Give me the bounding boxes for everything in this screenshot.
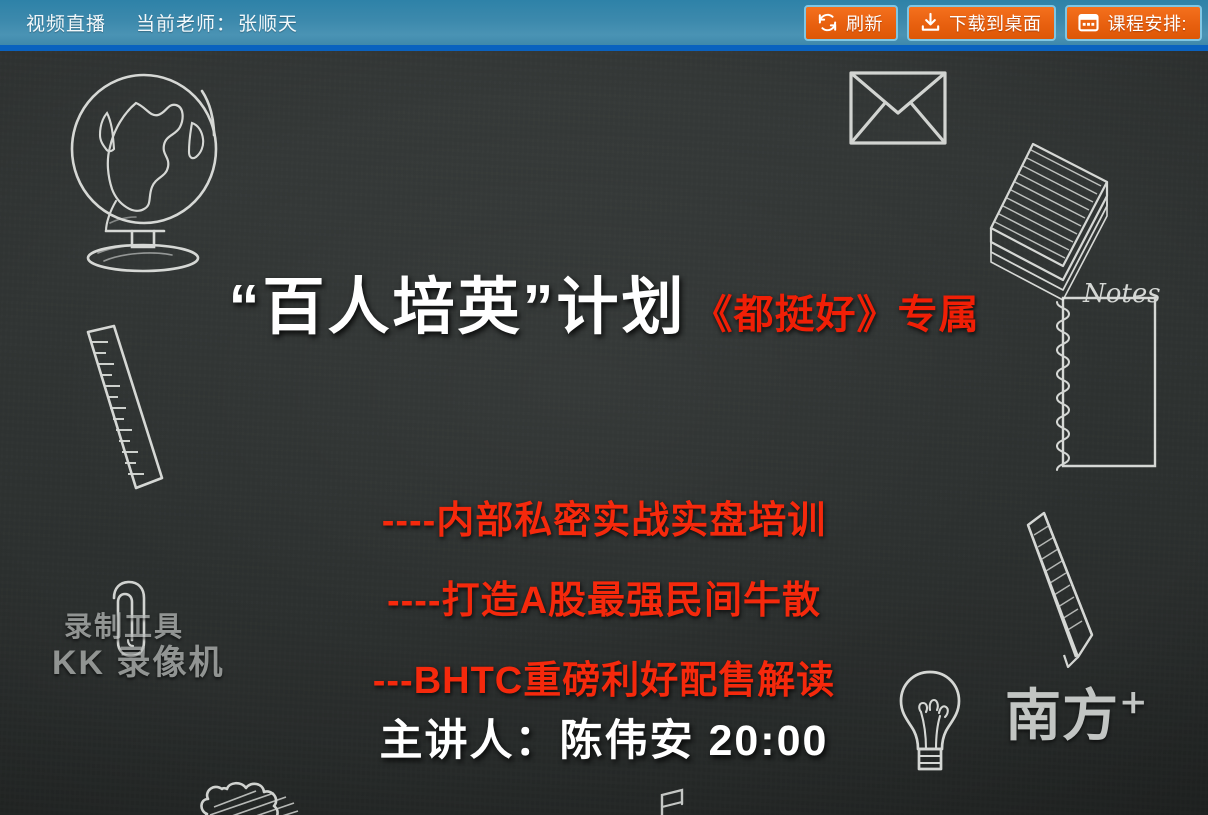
envelope-doodle: [848, 69, 948, 147]
calendar-icon: [1077, 11, 1100, 34]
slide-speaker-line: 主讲人：陈伟安 20:00: [0, 706, 1208, 768]
download-icon: [919, 11, 942, 34]
slide-bullet-1: ----内部私密实战实盘培训: [0, 481, 1208, 561]
refresh-icon: [816, 11, 839, 34]
refresh-button[interactable]: 刷新: [804, 5, 898, 41]
slide-title-main: “百人培英”计划: [228, 256, 686, 346]
slide-title-row: “百人培英”计划 《都挺好》专属: [0, 256, 1208, 346]
live-video-page: 视频直播 当前老师： 张顺天 刷新: [0, 0, 1208, 815]
slide-bullet-list: ----内部私密实战实盘培训 ----打造A股最强民间牛散 ---BHTC重磅利…: [0, 481, 1208, 721]
live-label: 视频直播: [26, 9, 106, 36]
download-to-desktop-button[interactable]: 下载到桌面: [907, 5, 1057, 41]
slide-bullet-2: ----打造A股最强民间牛散: [0, 561, 1208, 641]
slide-title-sub: 《都挺好》专属: [693, 282, 980, 340]
course-schedule-button-label: 课程安排:: [1107, 10, 1187, 36]
music-note-doodle: [640, 787, 692, 815]
ruler-doodle: [70, 326, 180, 501]
course-schedule-button[interactable]: 课程安排:: [1065, 5, 1202, 41]
download-button-label: 下载到桌面: [949, 10, 1042, 36]
top-header-bar: 视频直播 当前老师： 张顺天 刷新: [0, 0, 1208, 45]
globe-doodle: [52, 61, 242, 276]
current-teacher-label: 当前老师：: [136, 9, 236, 36]
current-teacher-name: 张顺天: [238, 9, 298, 36]
video-player-stage[interactable]: Notes: [0, 51, 1208, 815]
speech-bubble-doodle: [200, 773, 320, 815]
refresh-button-label: 刷新: [846, 10, 883, 36]
